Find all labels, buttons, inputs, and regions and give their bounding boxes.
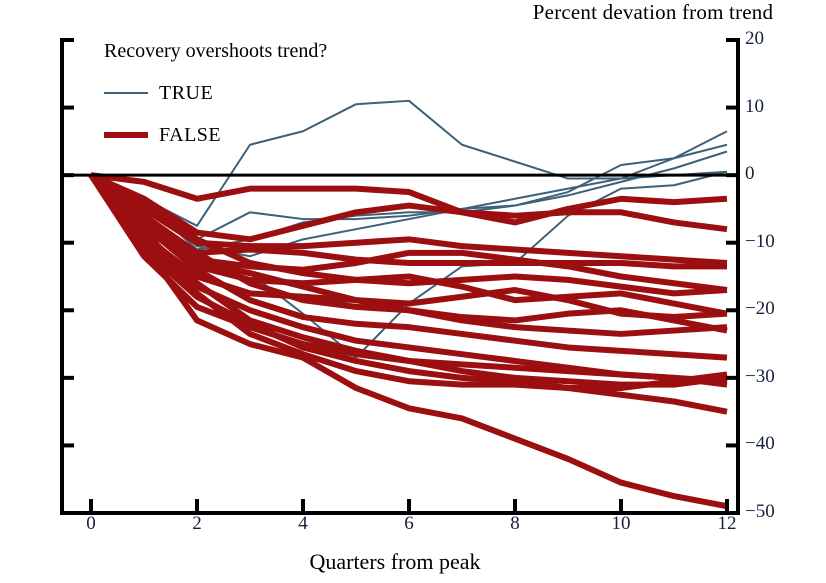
y-tick-label: 20 [745,28,805,50]
x-axis-label: Quarters from peak [62,549,728,575]
x-tick-label: 4 [283,513,323,535]
legend-label-false: FALSE [159,124,221,147]
y-tick-label: 0 [745,163,805,185]
y-tick-label: −10 [745,231,805,253]
x-tick-label: 0 [71,513,111,535]
y-tick-label: −20 [745,298,805,320]
x-tick-label: 2 [177,513,217,535]
legend-label-true: TRUE [159,82,213,105]
x-tick-label: 12 [707,513,747,535]
y-tick-label: −40 [745,433,805,455]
chart-figure: Percent devation from trend Recovery ove… [0,0,826,583]
series-layer [91,101,727,506]
x-tick-label: 6 [389,513,429,535]
legend-title: Recovery overshoots trend? [104,40,327,63]
y-tick-label: −50 [745,501,805,523]
y-tick-label: −30 [745,366,805,388]
x-tick-label: 8 [495,513,535,535]
chart-title: Percent devation from trend [480,0,826,25]
x-tick-label: 10 [601,513,641,535]
y-tick-label: 10 [745,96,805,118]
chart-plot-area [0,0,826,583]
